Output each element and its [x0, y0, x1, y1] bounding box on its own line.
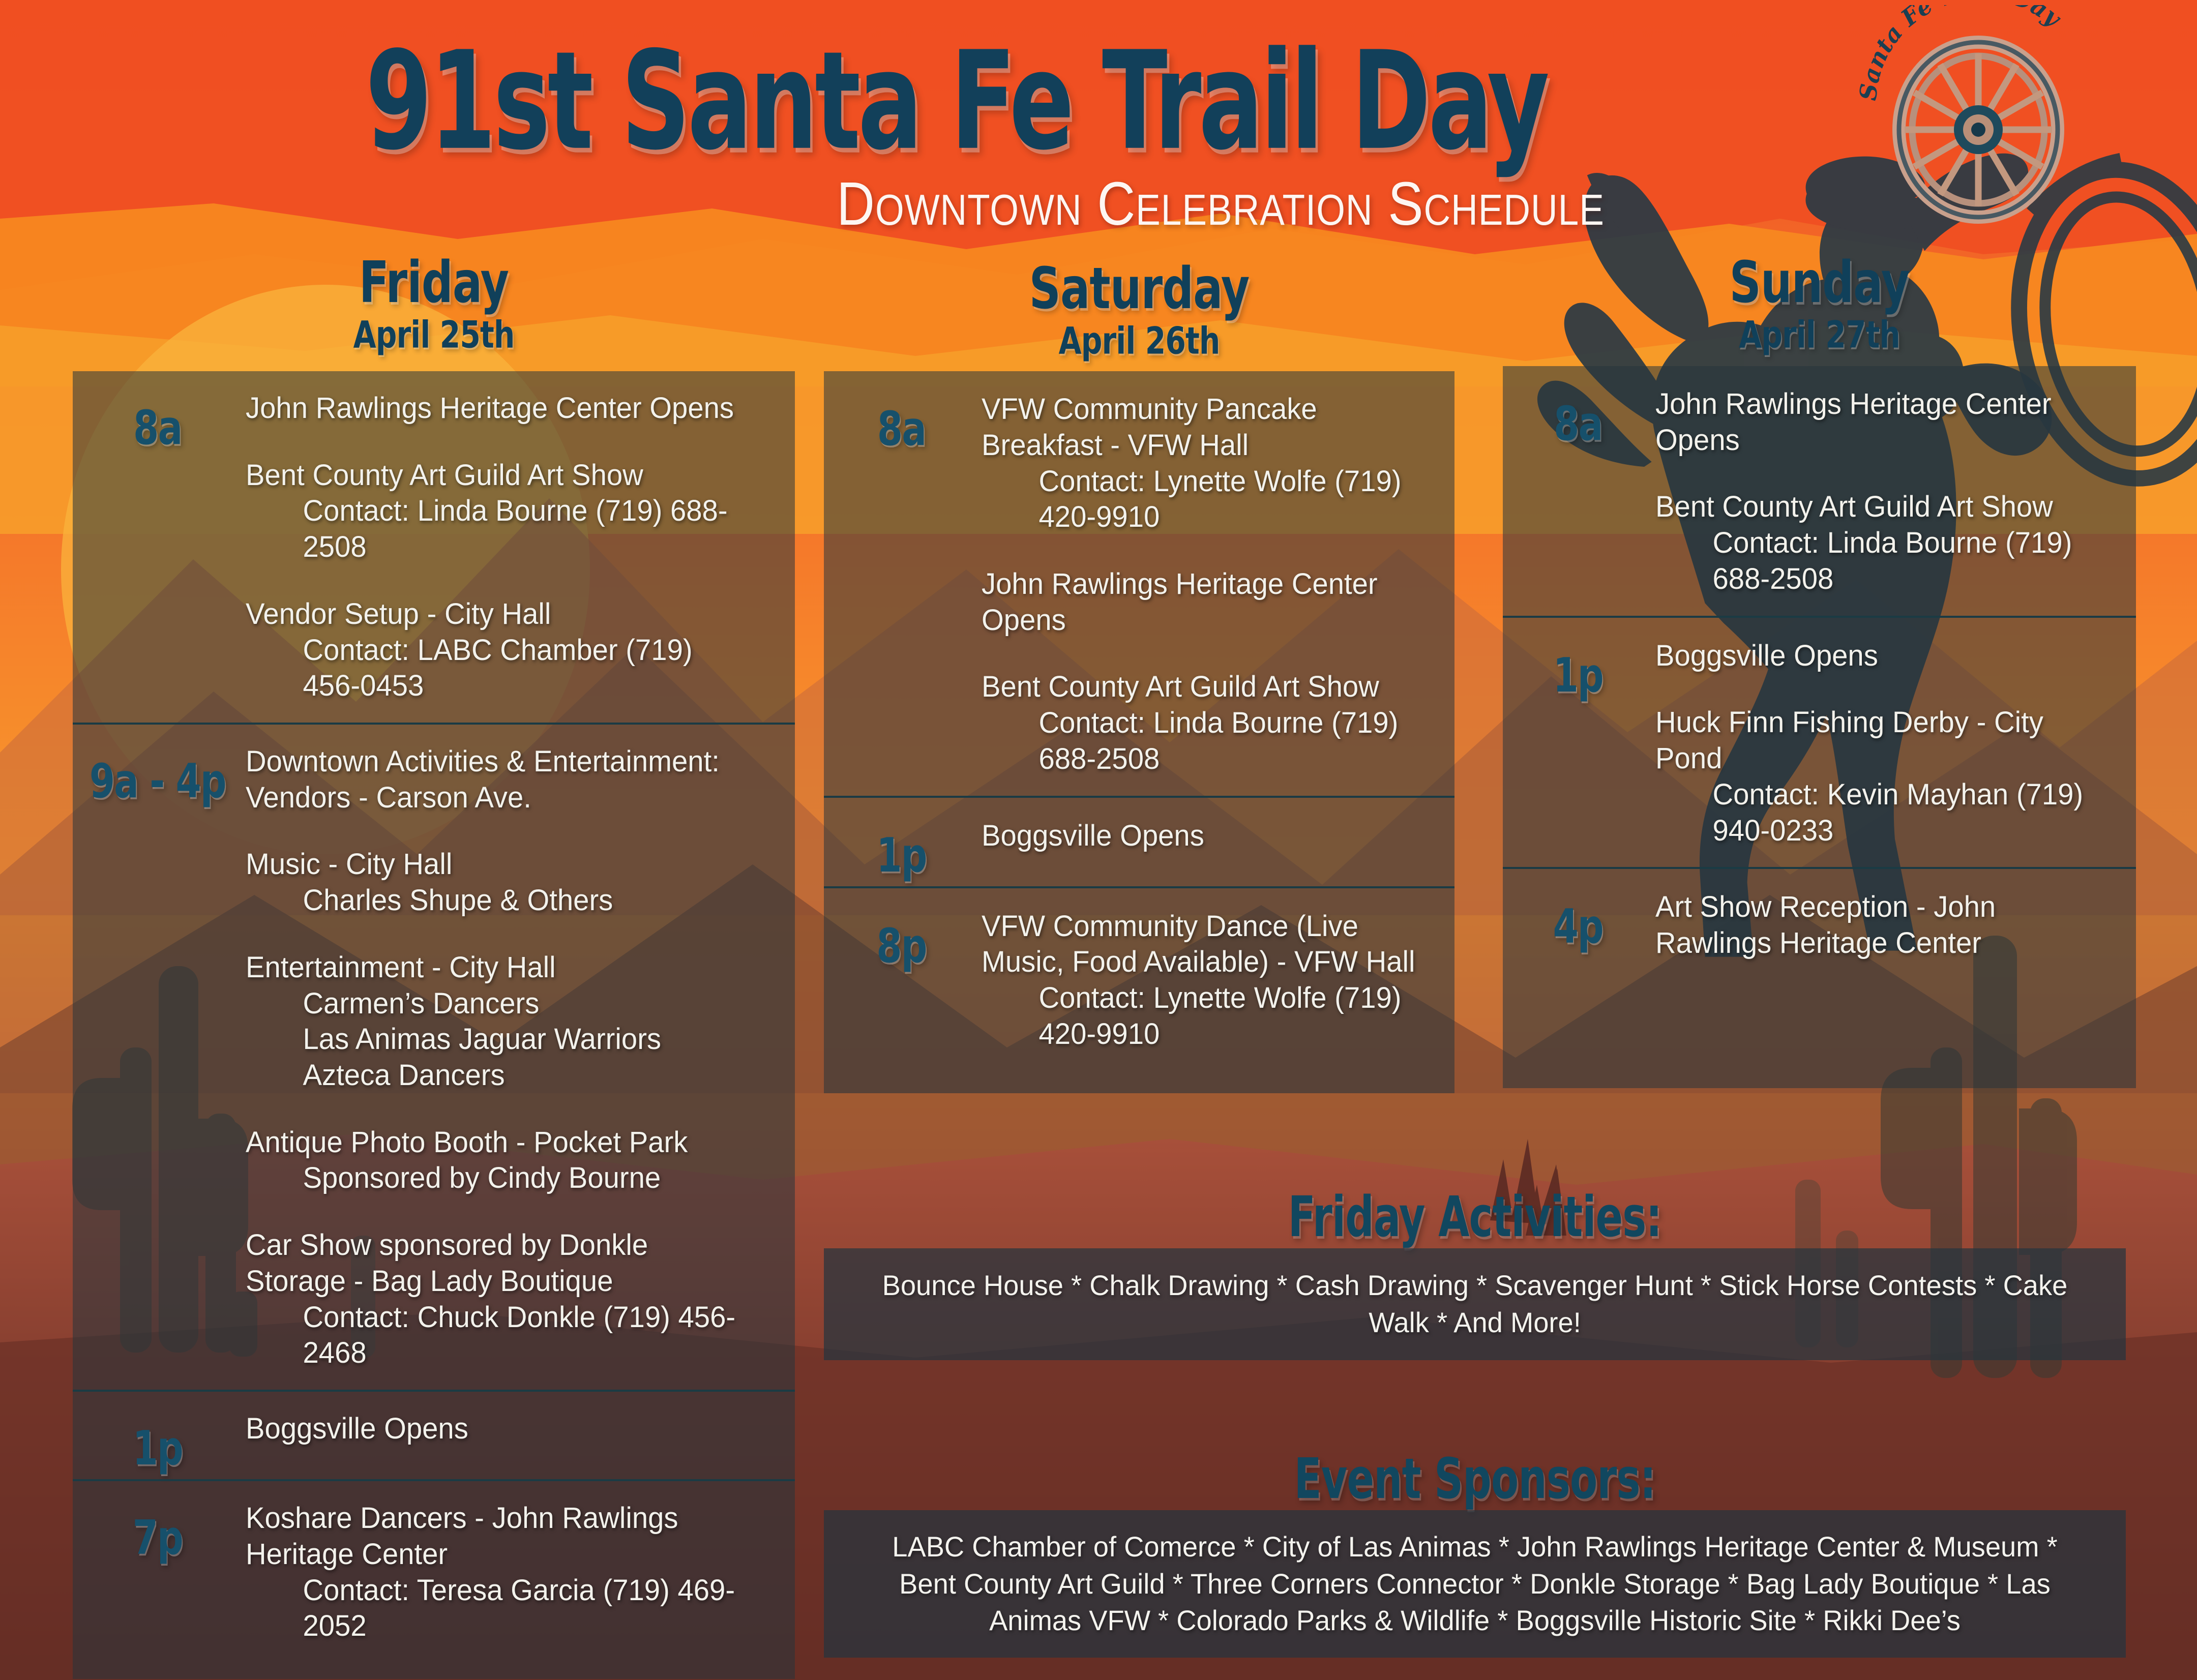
day-name-saturday: Saturday — [843, 260, 1436, 317]
event-sponsors-text: LABC Chamber of Comerce * City of Las An… — [843, 1528, 2106, 1639]
schedule-events: John Rawlings Heritage Center OpensBent … — [1655, 386, 2111, 597]
event-title: Car Show sponsored by Donkle Storage - B… — [246, 1228, 648, 1298]
schedule-row: 8pVFW Community Dance (Live Music, Food … — [824, 886, 1454, 1071]
event-title: Downtown Activities & Entertainment: — [246, 745, 720, 778]
event-detail: Las Animas Jaguar Warriors — [246, 1022, 749, 1058]
event-detail: Azteca Dancers — [246, 1058, 749, 1094]
schedule-events: Boggsville OpensHuck Finn Fishing Derby … — [1655, 638, 2111, 849]
event-title: Bent County Art Guild Art Show — [982, 670, 1379, 703]
friday-activities-box: Bounce House * Chalk Drawing * Cash Draw… — [824, 1248, 2126, 1360]
event-title: Music - City Hall — [246, 848, 452, 881]
schedule-event: Huck Finn Fishing Derby - City PondConta… — [1655, 705, 2097, 849]
event-detail: Charles Shupe & Others — [246, 883, 749, 919]
day-date-saturday: April 26th — [843, 322, 1436, 359]
schedule-event: VFW Community Pancake Breakfast - VFW Ha… — [982, 392, 1416, 535]
event-title: Boggsville Opens — [982, 819, 1204, 852]
event-sponsors-heading: Event Sponsors: — [876, 1447, 2073, 1512]
day-name-friday: Friday — [95, 254, 774, 311]
event-title: Bent County Art Guild Art Show — [1655, 490, 2053, 523]
event-title: VFW Community Dance (Live Music, Food Av… — [982, 910, 1415, 979]
day-heading-saturday: Saturday April 26th — [824, 260, 1454, 354]
schedule-event: Downtown Activities & Entertainment: — [246, 744, 749, 780]
schedule-event: Boggsville Opens — [246, 1411, 749, 1447]
event-detail: Contact: Teresa Garcia (719) 469-2052 — [246, 1573, 749, 1645]
schedule-event: Vendor Setup - City HallContact: LABC Ch… — [246, 596, 749, 704]
schedule-time: 1p — [829, 818, 974, 879]
schedule-event: John Rawlings Heritage Center Opens — [246, 391, 749, 427]
schedule-time: 1p — [78, 1411, 237, 1472]
schedule-event: John Rawlings Heritage Center Opens — [982, 566, 1416, 639]
schedule-events: Downtown Activities & Entertainment:Vend… — [246, 744, 764, 1371]
schedule-events: VFW Community Pancake Breakfast - VFW Ha… — [982, 392, 1429, 777]
schedule-panel-saturday: 8aVFW Community Pancake Breakfast - VFW … — [824, 371, 1454, 1093]
schedule-row: 4pArt Show Reception - John Rawlings Her… — [1503, 867, 2136, 980]
schedule-panel-sunday: 8aJohn Rawlings Heritage Center OpensBen… — [1503, 366, 2136, 1088]
event-title: Antique Photo Booth - Pocket Park — [246, 1126, 688, 1159]
event-title: Vendors - Carson Ave. — [246, 781, 531, 814]
schedule-event: Koshare Dancers - John Rawlings Heritage… — [246, 1501, 749, 1644]
schedule-events: Boggsville Opens — [982, 818, 1429, 854]
schedule-event: Antique Photo Booth - Pocket ParkSponsor… — [246, 1125, 749, 1197]
schedule-event: Entertainment - City HallCarmen’s Dancer… — [246, 950, 749, 1094]
event-detail: Contact: Chuck Donkle (719) 456-2468 — [246, 1300, 749, 1372]
schedule-panel-friday: 8aJohn Rawlings Heritage Center OpensBen… — [73, 371, 795, 1679]
schedule-row: 1pBoggsville Opens — [73, 1390, 795, 1479]
event-title: Entertainment - City Hall — [246, 951, 556, 984]
schedule-event: Bent County Art Guild Art ShowContact: L… — [246, 458, 749, 565]
schedule-row: 7pKoshare Dancers - John Rawlings Herita… — [73, 1479, 795, 1663]
event-detail: Contact: Linda Bourne (719) 688-2508 — [246, 493, 749, 565]
poster-header: 91st Santa Fe Trail Day Downtown Celebra… — [0, 0, 2197, 244]
event-detail: Contact: Kevin Mayhan (719) 940-0233 — [1655, 777, 2097, 849]
event-title: VFW Community Pancake Breakfast - VFW Ha… — [982, 393, 1317, 462]
day-heading-friday: Friday April 25th — [73, 254, 795, 348]
schedule-time: 7p — [78, 1501, 237, 1562]
schedule-row: 8aJohn Rawlings Heritage Center OpensBen… — [73, 371, 795, 723]
schedule-events: Boggsville Opens — [246, 1411, 764, 1447]
event-title: Bent County Art Guild Art Show — [246, 459, 643, 492]
event-detail: Contact: Linda Bourne (719) 688-2508 — [1655, 525, 2097, 597]
event-title: John Rawlings Heritage Center Opens — [1655, 387, 2052, 457]
page-subtitle: Downtown Celebration Schedule — [556, 168, 1884, 239]
schedule-event: Vendors - Carson Ave. — [246, 780, 749, 816]
day-name-sunday: Sunday — [1522, 254, 2117, 311]
event-title: Art Show Reception - John Rawlings Herit… — [1655, 890, 1996, 959]
wagon-wheel-icon: Santa Fe Trail Day — [1856, 5, 2100, 224]
page-title: 91st Santa Fe Trail Day — [278, 23, 1635, 180]
event-detail: Sponsored by Cindy Bourne — [246, 1160, 749, 1196]
schedule-time: 8a — [78, 391, 237, 452]
schedule-row: 8aVFW Community Pancake Breakfast - VFW … — [824, 371, 1454, 796]
day-date-friday: April 25th — [95, 316, 774, 353]
schedule-row: 1pBoggsville Opens — [824, 796, 1454, 886]
event-title: Koshare Dancers - John Rawlings Heritage… — [246, 1502, 678, 1571]
event-title: John Rawlings Heritage Center Opens — [982, 567, 1378, 637]
event-title: John Rawlings Heritage Center Opens — [246, 392, 734, 425]
schedule-time: 9a - 4p — [78, 744, 237, 805]
schedule-event: Boggsville Opens — [1655, 638, 2097, 674]
schedule-event: John Rawlings Heritage Center Opens — [1655, 386, 2097, 459]
schedule-events: VFW Community Dance (Live Music, Food Av… — [982, 909, 1429, 1053]
schedule-time: 8a — [1508, 386, 1648, 447]
event-detail: Contact: Lynette Wolfe (719) 420-9910 — [982, 980, 1416, 1053]
schedule-row: 1pBoggsville OpensHuck Finn Fishing Derb… — [1503, 616, 2136, 867]
schedule-events: John Rawlings Heritage Center OpensBent … — [246, 391, 764, 704]
schedule-time: 8p — [829, 909, 974, 970]
schedule-time: 8a — [829, 392, 974, 453]
schedule-row: 9a - 4pDowntown Activities & Entertainme… — [73, 723, 795, 1390]
event-sponsors-box: LABC Chamber of Comerce * City of Las An… — [824, 1510, 2126, 1658]
day-heading-sunday: Sunday April 27th — [1503, 254, 2136, 348]
event-title: Boggsville Opens — [1655, 639, 1878, 672]
schedule-events: Koshare Dancers - John Rawlings Heritage… — [246, 1501, 764, 1644]
schedule-row: 8aJohn Rawlings Heritage Center OpensBen… — [1503, 366, 2136, 616]
schedule-event: Bent County Art Guild Art ShowContact: L… — [1655, 489, 2097, 597]
event-detail: Contact: Linda Bourne (719) 688-2508 — [982, 705, 1416, 777]
schedule-event: VFW Community Dance (Live Music, Food Av… — [982, 909, 1416, 1053]
schedule-event: Boggsville Opens — [982, 818, 1416, 854]
schedule-time: 1p — [1508, 638, 1648, 699]
friday-activities-text: Bounce House * Chalk Drawing * Cash Draw… — [843, 1267, 2106, 1341]
schedule-event: Music - City HallCharles Shupe & Others — [246, 847, 749, 919]
event-title: Boggsville Opens — [246, 1412, 468, 1445]
event-detail: Carmen’s Dancers — [246, 986, 749, 1022]
friday-activities-heading: Friday Activities: — [876, 1185, 2073, 1250]
schedule-event: Art Show Reception - John Rawlings Herit… — [1655, 889, 2097, 962]
event-title: Vendor Setup - City Hall — [246, 597, 551, 631]
schedule-events: Art Show Reception - John Rawlings Herit… — [1655, 889, 2111, 962]
day-date-sunday: April 27th — [1522, 316, 2117, 353]
event-title: Huck Finn Fishing Derby - City Pond — [1655, 706, 2043, 775]
schedule-event: Bent County Art Guild Art ShowContact: L… — [982, 669, 1416, 777]
schedule-time: 4p — [1508, 889, 1648, 950]
event-detail: Contact: LABC Chamber (719) 456-0453 — [246, 633, 749, 705]
schedule-event: Car Show sponsored by Donkle Storage - B… — [246, 1227, 749, 1371]
santa-fe-trail-day-logo: Santa Fe Trail Day — [1856, 5, 2100, 224]
event-detail: Contact: Lynette Wolfe (719) 420-9910 — [982, 464, 1416, 536]
